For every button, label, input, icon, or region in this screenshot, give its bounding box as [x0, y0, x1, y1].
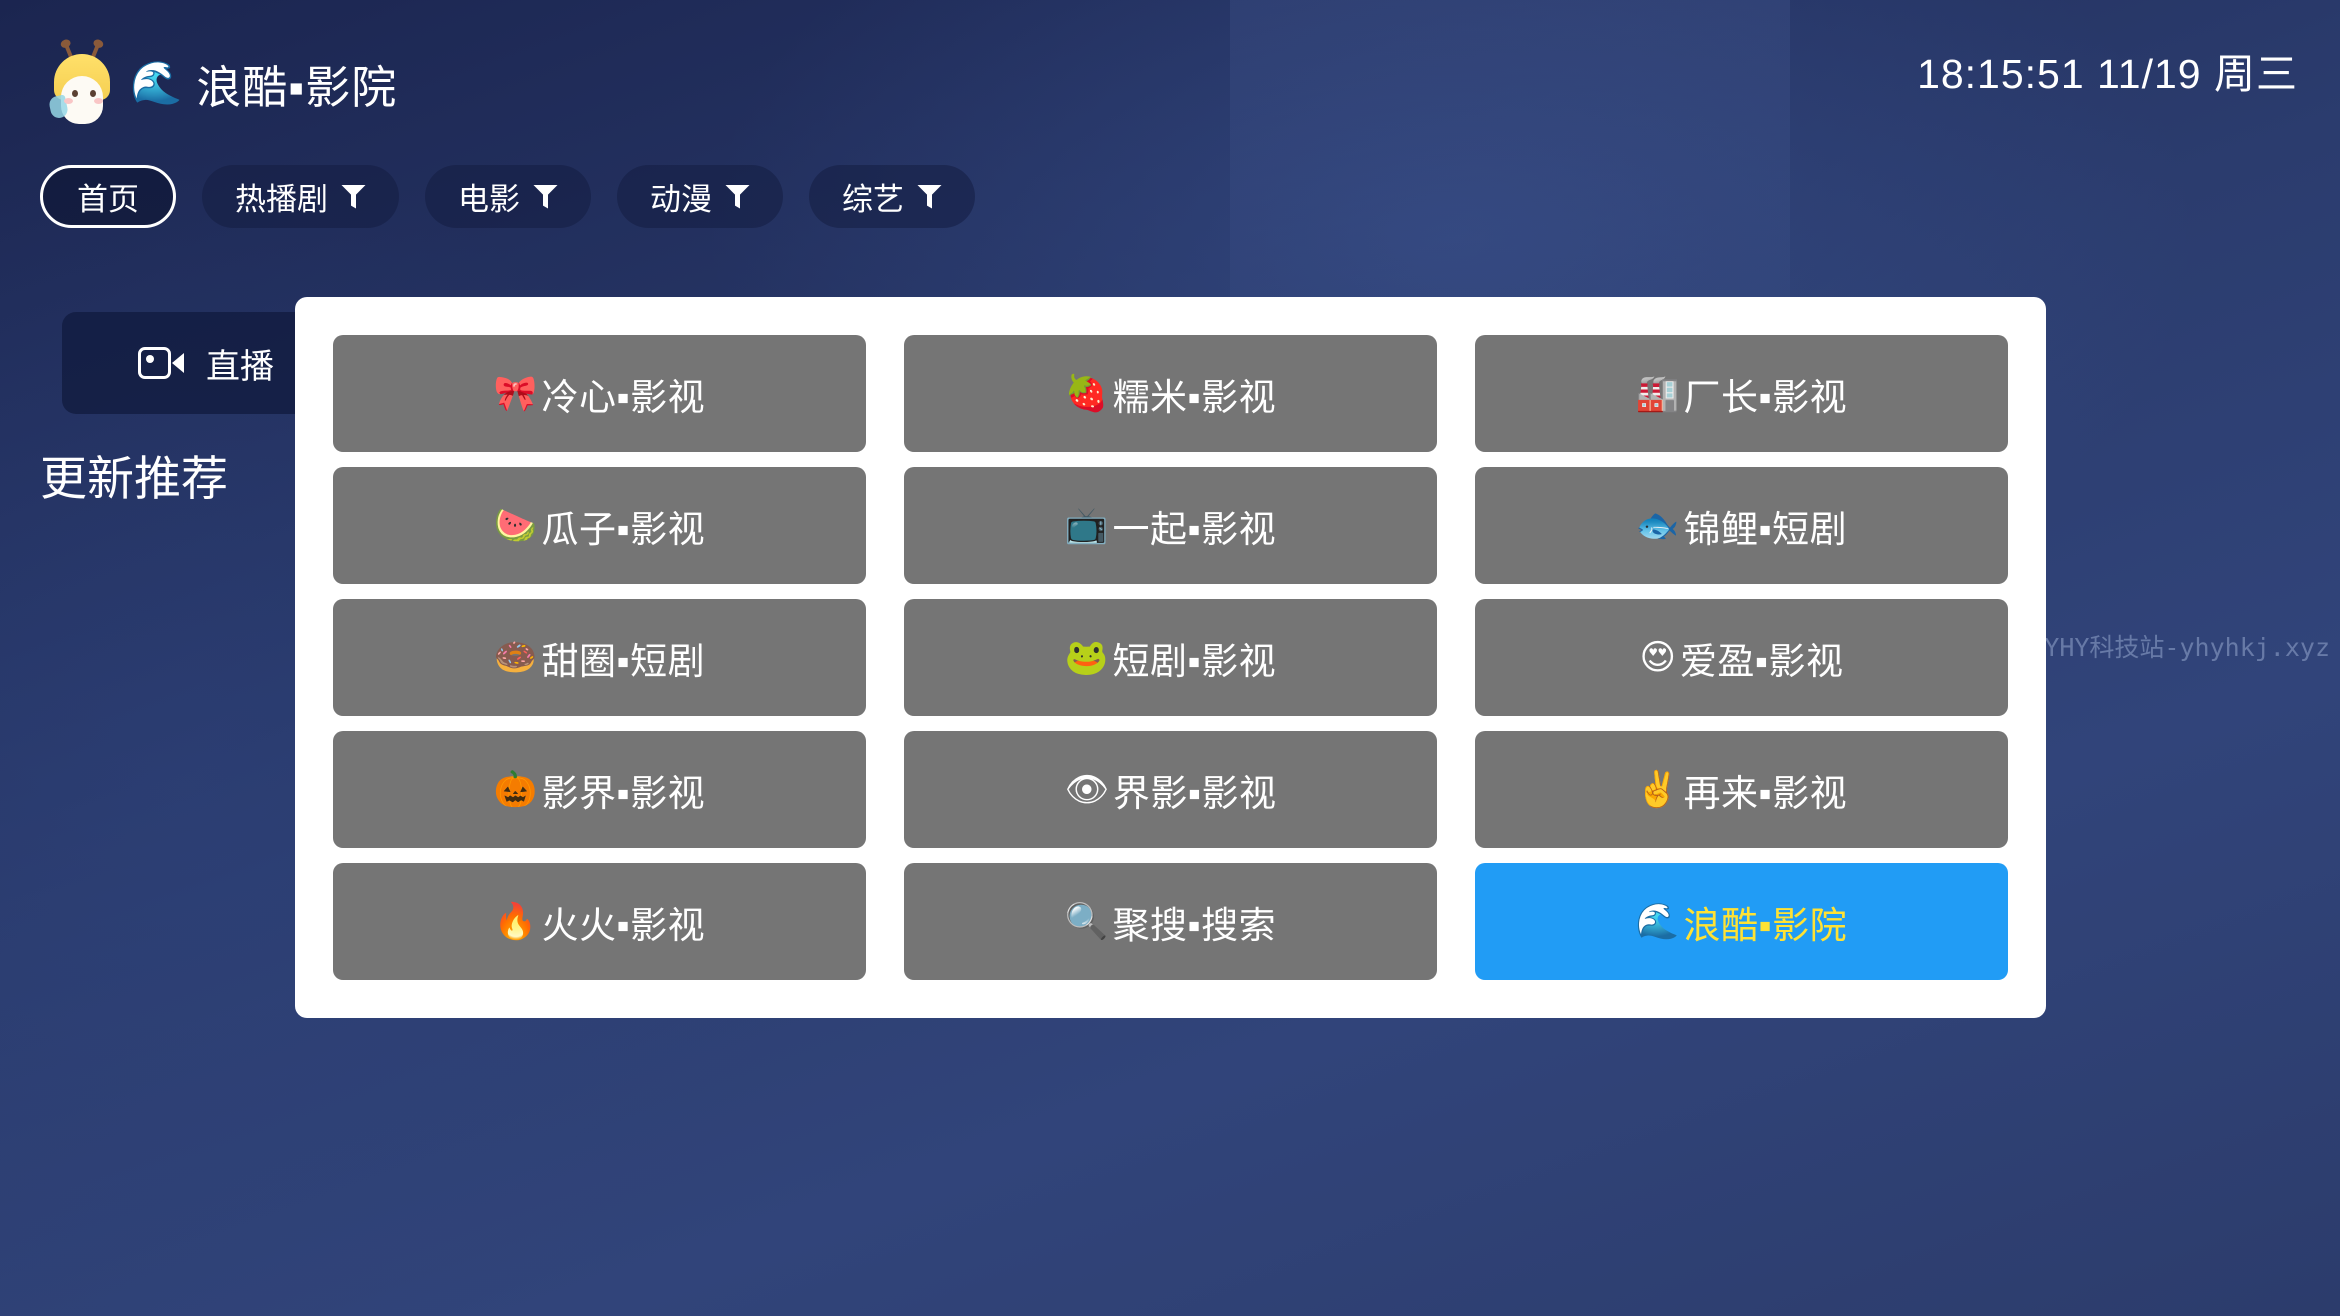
television-icon: 📺 [1065, 508, 1109, 543]
tab-hot-drama[interactable]: 热播剧 [202, 165, 399, 228]
source-item-label: 浪酷▪影院 [1683, 895, 1847, 949]
wave-icon: 🌊 [1636, 904, 1680, 939]
tab-variety[interactable]: 综艺 [809, 165, 975, 228]
fish-icon: 🐟 [1636, 508, 1680, 543]
source-item-11[interactable]: ✌️ 再来▪影视 [1475, 731, 2008, 848]
frog-icon: 🐸 [1065, 640, 1109, 675]
strawberry-icon: 🍓 [1065, 376, 1109, 411]
source-picker-dialog: 🎀 冷心▪影视 🍓 糯米▪影视 🏭 厂长▪影视 🍉 瓜子▪影视 📺 一起▪影视 … [295, 297, 2046, 1018]
source-item-label: 甜圈▪短剧 [541, 631, 705, 685]
source-item-label: 糯米▪影视 [1112, 367, 1276, 421]
victory-hand-icon: ✌️ [1636, 772, 1680, 807]
filter-funnel-icon [533, 185, 558, 209]
source-grid: 🎀 冷心▪影视 🍓 糯米▪影视 🏭 厂长▪影视 🍉 瓜子▪影视 📺 一起▪影视 … [333, 335, 2008, 980]
app-title: 浪酷▪影院 [196, 51, 397, 116]
source-item-label: 厂长▪影视 [1683, 367, 1847, 421]
tab-movie[interactable]: 电影 [425, 165, 591, 228]
ribbon-icon: 🎀 [494, 376, 538, 411]
pumpkin-icon: 🎃 [494, 772, 538, 807]
tab-hot-drama-label: 热播剧 [235, 174, 328, 219]
source-item-label: 再来▪影视 [1683, 763, 1847, 817]
watermark: YHY科技站-yhyhkj.xyz [2044, 628, 2330, 664]
source-item-label: 瓜子▪影视 [541, 499, 705, 553]
app-header: 🌊 浪酷▪影院 18:15:51 11/19 周三 [0, 0, 2340, 148]
tab-anime-label: 动漫 [650, 174, 712, 219]
heart-eyes-icon: 😍 [1639, 640, 1676, 675]
filter-funnel-icon [917, 185, 942, 209]
source-item-5[interactable]: 🐟 锦鲤▪短剧 [1475, 467, 2008, 584]
source-item-13[interactable]: 🔍 聚搜▪搜索 [904, 863, 1437, 980]
source-item-label: 爱盈▪影视 [1680, 631, 1844, 685]
brand: 🌊 浪酷▪影院 [48, 42, 397, 124]
nav-tabs: 首页 热播剧 电影 动漫 综艺 [40, 165, 975, 228]
filter-funnel-icon [341, 185, 366, 209]
tab-home[interactable]: 首页 [40, 165, 176, 228]
mascot-avatar-icon [48, 42, 116, 124]
page-section-heading: 更新推荐 [40, 440, 228, 509]
source-item-0[interactable]: 🎀 冷心▪影视 [333, 335, 866, 452]
source-item-2[interactable]: 🏭 厂长▪影视 [1475, 335, 2008, 452]
watermelon-icon: 🍉 [494, 508, 538, 543]
source-item-label: 冷心▪影视 [541, 367, 705, 421]
live-card-label: 直播 [206, 339, 274, 388]
magnifier-icon: 🔍 [1065, 904, 1109, 939]
source-item-1[interactable]: 🍓 糯米▪影视 [904, 335, 1437, 452]
source-item-10[interactable]: 👁 界影▪影视 [904, 731, 1437, 848]
source-item-label: 一起▪影视 [1112, 499, 1276, 553]
source-item-6[interactable]: 🍩 甜圈▪短剧 [333, 599, 866, 716]
source-item-label: 锦鲤▪短剧 [1683, 499, 1847, 553]
tab-anime[interactable]: 动漫 [617, 165, 783, 228]
fire-icon: 🔥 [494, 904, 538, 939]
source-item-3[interactable]: 🍉 瓜子▪影视 [333, 467, 866, 584]
source-item-12[interactable]: 🔥 火火▪影视 [333, 863, 866, 980]
source-item-8[interactable]: 😍 爱盈▪影视 [1475, 599, 2008, 716]
video-camera-icon [138, 347, 184, 379]
source-item-9[interactable]: 🎃 影界▪影视 [333, 731, 866, 848]
filter-funnel-icon [725, 185, 750, 209]
source-item-label: 影界▪影视 [541, 763, 705, 817]
source-item-7[interactable]: 🐸 短剧▪影视 [904, 599, 1437, 716]
tab-home-label: 首页 [77, 174, 139, 219]
source-item-label: 界影▪影视 [1113, 763, 1277, 817]
wave-icon: 🌊 [130, 62, 182, 104]
source-item-label: 聚搜▪搜索 [1112, 895, 1276, 949]
source-item-label: 短剧▪影视 [1112, 631, 1276, 685]
source-item-4[interactable]: 📺 一起▪影视 [904, 467, 1437, 584]
eye-icon: 👁 [1064, 772, 1108, 807]
doughnut-icon: 🍩 [494, 640, 538, 675]
clock: 18:15:51 11/19 周三 [1917, 40, 2298, 100]
tab-movie-label: 电影 [458, 174, 520, 219]
source-item-14[interactable]: 🌊 浪酷▪影院 [1475, 863, 2008, 980]
tab-variety-label: 综艺 [842, 174, 904, 219]
source-item-label: 火火▪影视 [541, 895, 705, 949]
factory-icon: 🏭 [1636, 376, 1680, 411]
